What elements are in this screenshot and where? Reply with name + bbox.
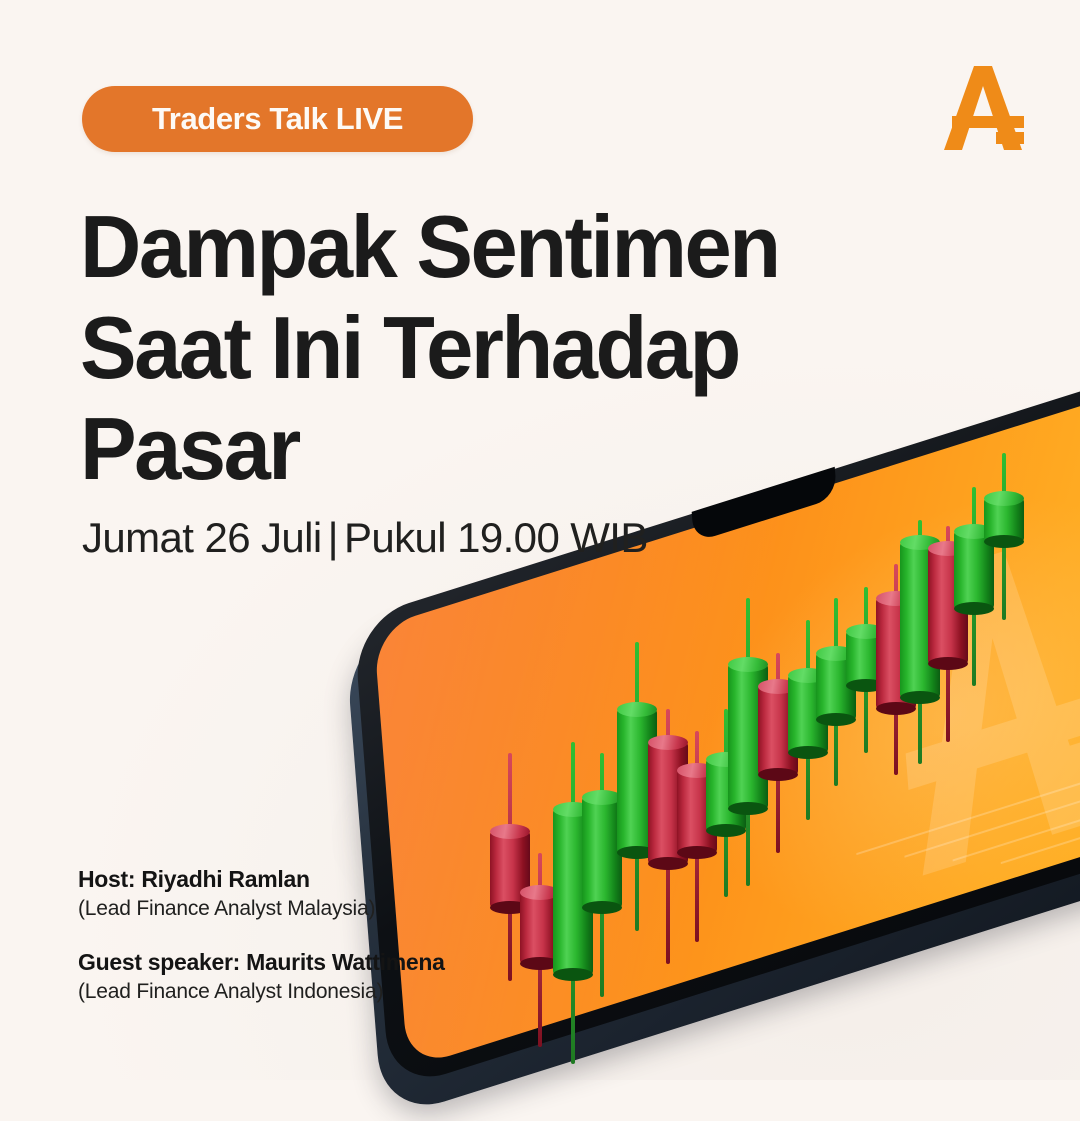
candle-wick [666,709,670,964]
screen-watermark-logo [771,480,1080,937]
candle-wick [894,564,898,775]
candle-cap [758,679,798,694]
candle-wick [776,653,780,853]
candle-11-up [788,620,828,820]
credit-host: Host: Riyadhi Ramlan (Lead Finance Analy… [78,866,445,921]
screen-stripe [953,790,1080,861]
candle-base [984,535,1024,548]
candle-cap [490,824,530,839]
candle-wick [600,753,604,997]
candle-cap [788,668,828,683]
candle-16-down [928,526,968,742]
candle-cap [816,646,856,661]
candle-body [582,797,622,908]
candle-body [758,686,798,775]
candle-cap [984,491,1024,506]
candle-wick [864,587,868,754]
candle-base [520,957,560,970]
candle-base [900,691,940,704]
candle-body [876,598,916,709]
candle-1-down [490,753,530,981]
candle-wick [538,853,542,1047]
guest-role: (Lead Finance Analyst Indonesia) [78,980,445,1004]
candle-cap [876,591,916,606]
candle-cap [677,763,717,778]
candle-cap [900,535,940,550]
candle-body [846,631,886,687]
credit-guest: Guest speaker: Maurits Wattimena (Lead F… [78,949,445,1004]
candle-4-up [582,753,622,997]
candle-wick [571,742,575,1064]
headline-line-3: Pasar [80,398,813,499]
candle-base [876,702,916,715]
candle-wick [972,487,976,687]
candle-body [520,892,560,964]
event-time: Pukul 19.00 WIB [344,514,648,561]
candle-cap [617,702,657,717]
guest-name: Guest speaker: Maurits Wattimena [78,949,445,976]
candle-14-down [876,564,916,775]
screen-stripe [904,772,1080,858]
host-name: Host: Riyadhi Ramlan [78,866,445,893]
candle-base [582,901,622,914]
candle-18-up [984,453,1024,620]
candle-body [490,831,530,909]
headline-line-1: Dampak Sentimen [80,196,813,297]
candle-5-up [617,642,657,931]
candle-8-up [706,709,746,898]
candle-wick [1002,453,1006,620]
candle-15-up [900,520,940,764]
candle-base [677,846,717,859]
candle-cap [846,624,886,639]
candle-base [758,768,798,781]
candle-cap [928,541,968,556]
candle-cap [706,752,746,767]
candle-cap [728,657,768,672]
phone-volume-button [437,592,512,626]
event-schedule: Jumat 26 Juli|Pukul 19.00 WIB [82,514,648,562]
candle-body [816,653,856,720]
screen-glow [612,414,1080,1069]
candle-wick [635,642,639,931]
candle-13-up [846,587,886,754]
candle-base [816,713,856,726]
candle-base [928,657,968,670]
candle-wick [834,598,838,787]
candle-body [900,542,940,697]
candle-body [954,531,994,609]
candle-wick [746,598,750,887]
live-badge[interactable]: Traders Talk LIVE [82,86,473,152]
live-badge-label: Traders Talk LIVE [152,101,403,137]
candle-body [706,759,746,831]
event-date: Jumat 26 Juli [82,514,322,561]
candle-base [617,846,657,859]
candle-base [648,857,688,870]
candle-body [553,809,593,976]
candle-2-down [520,853,560,1047]
candle-body [984,498,1024,542]
candle-wick [695,731,699,942]
candle-base [788,746,828,759]
candle-base [954,602,994,615]
candle-base [846,679,886,692]
schedule-separator: | [322,514,344,561]
ascend-a-logo [934,58,1034,158]
headline-line-2: Saat Ini Terhadap [80,297,813,398]
candle-17-up [954,487,994,687]
candle-6-down [648,709,688,964]
candle-7-down [677,731,717,942]
candle-body [648,742,688,864]
candle-cap [520,885,560,900]
candle-wick [724,709,728,898]
candle-9-up [728,598,768,887]
candle-body [617,709,657,853]
candle-body [928,548,968,665]
candle-cap [553,802,593,817]
candle-base [490,901,530,914]
candle-cap [582,790,622,805]
candle-10-down [758,653,798,853]
candle-base [728,802,768,815]
speaker-credits: Host: Riyadhi Ramlan (Lead Finance Analy… [78,866,445,1032]
candle-body [728,664,768,808]
screen-stripe [1001,808,1080,864]
candle-body [788,675,828,753]
candle-cap [648,735,688,750]
page-title: Dampak Sentimen Saat Ini Terhadap Pasar [80,196,813,499]
candle-cap [954,524,994,539]
candle-wick [508,753,512,981]
candle-wick [806,620,810,820]
screen-stripe [856,755,1080,856]
candle-3-up [553,742,593,1064]
candle-body [677,770,717,853]
candle-wick [946,526,950,742]
candle-12-up [816,598,856,787]
promo-poster: Traders Talk LIVE Dampak Sentimen Saat I… [0,0,1080,1080]
candle-base [553,968,593,981]
candle-base [706,824,746,837]
candle-wick [918,520,922,764]
host-role: (Lead Finance Analyst Malaysia) [78,897,445,921]
